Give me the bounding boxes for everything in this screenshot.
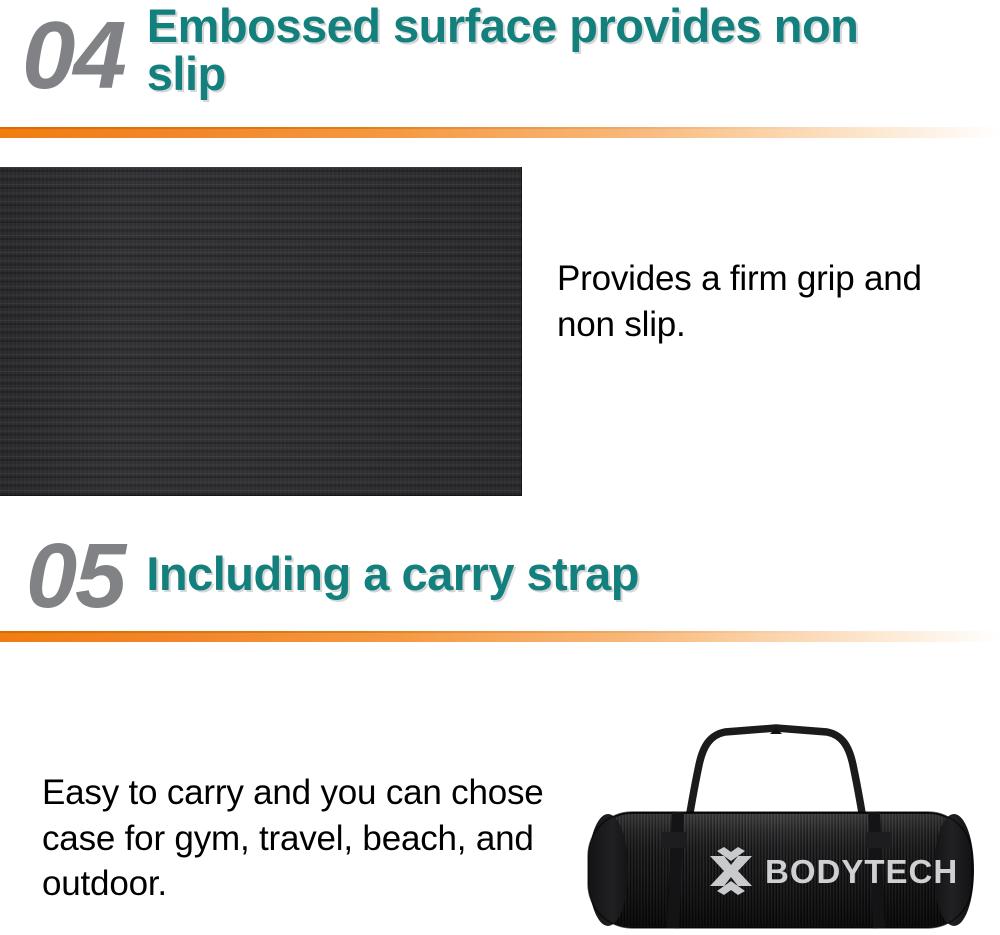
infographic-canvas: 04 Embossed surface provides non slip Pr… [0,0,1000,935]
section-heading-05: 05 Including a carry strap [0,528,1000,628]
section-body-04: Provides a firm grip and non slip. [557,256,977,347]
mat-surface-texture [0,167,521,495]
section-body-05: Easy to carry and you can chose case for… [42,770,562,907]
section-divider-04 [0,127,1000,138]
brand-name: BODYTECH [765,853,958,890]
mat-surface-image [0,167,522,496]
section-heading-04: 04 Embossed surface provides non slip [0,0,1000,125]
section-title-04: Embossed surface provides non slip [147,2,947,99]
section-title-05: Including a carry strap [146,550,639,598]
step-number-04: 04 [22,12,125,100]
step-number-05: 05 [26,534,124,619]
section-divider-05 [0,631,1000,642]
rolled-mat-image: BODYTECH [560,672,1000,935]
